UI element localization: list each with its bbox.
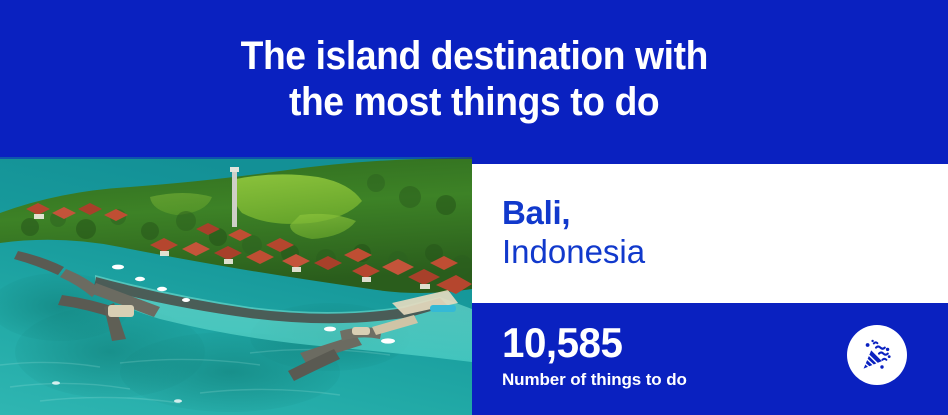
stat-badge [847, 325, 907, 385]
headline-line-2: the most things to do [289, 79, 659, 125]
stat-strip: 10,585 Number of things to do [472, 303, 948, 415]
infographic-card: The island destination with the most thi… [0, 0, 948, 415]
destination-name-panel: Bali, Indonesia [472, 164, 948, 303]
bali-coastline-aerial-illustration [0, 157, 472, 415]
destination-country: Indonesia [502, 232, 948, 272]
headline-line-1: The island destination with [240, 33, 707, 79]
party-popper-icon [858, 336, 896, 374]
destination-city: Bali, [502, 194, 948, 232]
stat-value: 10,585 [502, 319, 622, 367]
header-banner: The island destination with the most thi… [0, 0, 948, 157]
stat-label: Number of things to do [502, 369, 687, 391]
destination-photo [0, 157, 472, 415]
